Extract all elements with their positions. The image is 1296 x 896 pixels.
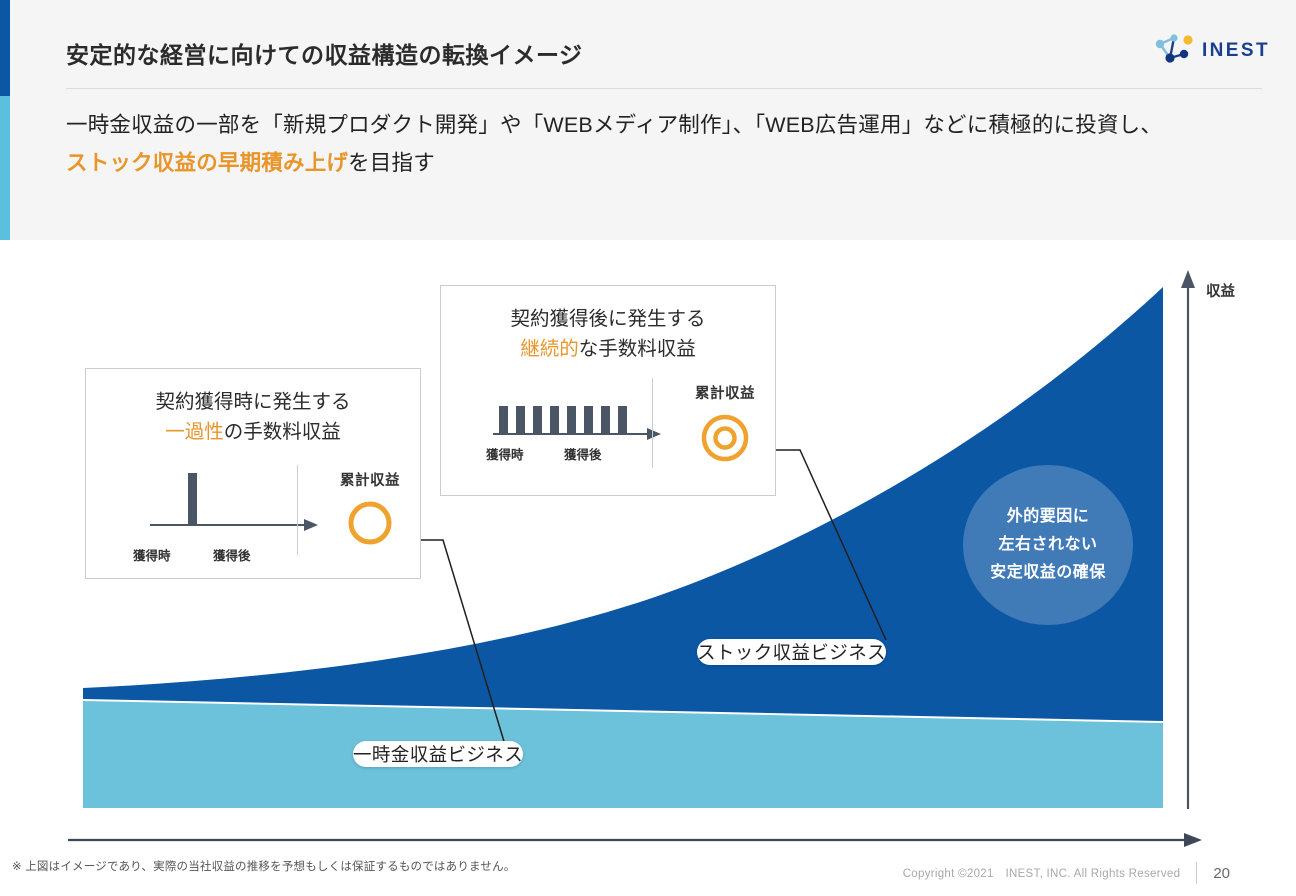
lead-line-2: ストック収益の早期積み上げを目指す xyxy=(66,145,1266,183)
single-ring-icon xyxy=(344,497,396,549)
callout-one-time: 契約獲得時に発生する 一過性の手数料収益 獲得時 獲得後 累計収益 xyxy=(85,368,421,579)
one-time-axis-label-left: 獲得時 xyxy=(133,545,171,564)
callout-stock-rest: な手数料収益 xyxy=(579,338,696,360)
callout-one-time-line2: 一過性の手数料収益 xyxy=(86,417,420,447)
lead-line-1: 一時金収益の一部を「新規プロダクト開発」や「WEBメディア制作」、「WEB広告運… xyxy=(66,107,1266,145)
stock-axis-label-right: 獲得後 xyxy=(564,444,602,463)
footnote: ※ 上図はイメージであり、実際の当社収益の推移を予想もしくは保証するものではあり… xyxy=(12,858,515,874)
callout-one-time-heading: 契約獲得時に発生する 一過性の手数料収益 xyxy=(86,387,420,447)
callout-stock: 契約獲得後に発生する 継続的な手数料収益 獲得時 獲得後 累計収益 xyxy=(440,285,776,496)
footer-divider xyxy=(1196,862,1197,884)
header-band: 安定的な経営に向けての収益構造の転換イメージ INEST 一時金収益の一部を「新… xyxy=(0,0,1296,240)
lead-rest: を目指す xyxy=(348,151,435,175)
y-axis xyxy=(1181,270,1195,809)
network-nodes-icon: INEST xyxy=(1148,30,1268,70)
pill-stock-business[interactable]: ストック収益ビジネス xyxy=(697,639,886,665)
one-time-mini-chart xyxy=(128,467,338,547)
inest-logo: INEST xyxy=(1148,30,1268,70)
title-divider xyxy=(66,88,1262,89)
lead-paragraph: 一時金収益の一部を「新規プロダクト開発」や「WEBメディア制作」、「WEB広告運… xyxy=(66,107,1266,182)
x-axis xyxy=(68,833,1202,847)
stock-axis-label-left: 獲得時 xyxy=(486,444,524,463)
slide-root: 安定的な経営に向けての収益構造の転換イメージ INEST 一時金収益の一部を「新… xyxy=(0,0,1296,896)
bubble-line-2: 左右されない xyxy=(998,531,1097,559)
callout-stock-line2: 継続的な手数料収益 xyxy=(441,334,775,364)
callout-stock-highlight: 継続的 xyxy=(520,338,579,360)
callout-stock-line1: 契約獲得後に発生する xyxy=(441,304,775,334)
stability-bubble: 外的要因に 左右されない 安定収益の確保 xyxy=(963,465,1133,625)
callout-one-time-line1: 契約獲得時に発生する xyxy=(86,387,420,417)
y-axis-label: 収益 xyxy=(1206,280,1235,301)
bubble-line-1: 外的要因に xyxy=(1007,503,1090,531)
lead-highlight: ストック収益の早期積み上げ xyxy=(66,151,348,175)
copyright-text: Copyright ©2021 INEST, INC. All Rights R… xyxy=(903,865,1181,881)
one-time-divider xyxy=(297,465,298,555)
pill-stock-label: ストック収益ビジネス xyxy=(697,639,886,665)
one-time-axis-label-right: 獲得後 xyxy=(213,545,251,564)
one-time-cumulative-label: 累計収益 xyxy=(318,469,422,490)
footer-copyright: Copyright ©2021 INEST, INC. All Rights R… xyxy=(903,862,1230,884)
pill-onetime-business[interactable]: 一時金収益ビジネス xyxy=(353,741,523,767)
page-title: 安定的な経営に向けての収益構造の転換イメージ xyxy=(66,36,583,70)
page-number: 20 xyxy=(1213,865,1230,882)
accent-bar-dark xyxy=(0,0,10,96)
bubble-line-3: 安定収益の確保 xyxy=(990,559,1106,587)
accent-bar-light xyxy=(0,96,10,240)
stock-cumulative-label: 累計収益 xyxy=(673,382,777,403)
callout-one-time-highlight: 一過性 xyxy=(165,421,224,443)
logo-wordmark: INEST xyxy=(1202,40,1268,61)
pill-onetime-label: 一時金収益ビジネス xyxy=(353,741,523,767)
callout-one-time-rest: の手数料収益 xyxy=(224,421,341,443)
stock-divider xyxy=(652,378,653,468)
double-ring-icon xyxy=(697,410,753,466)
callout-stock-heading: 契約獲得後に発生する 継続的な手数料収益 xyxy=(441,304,775,364)
